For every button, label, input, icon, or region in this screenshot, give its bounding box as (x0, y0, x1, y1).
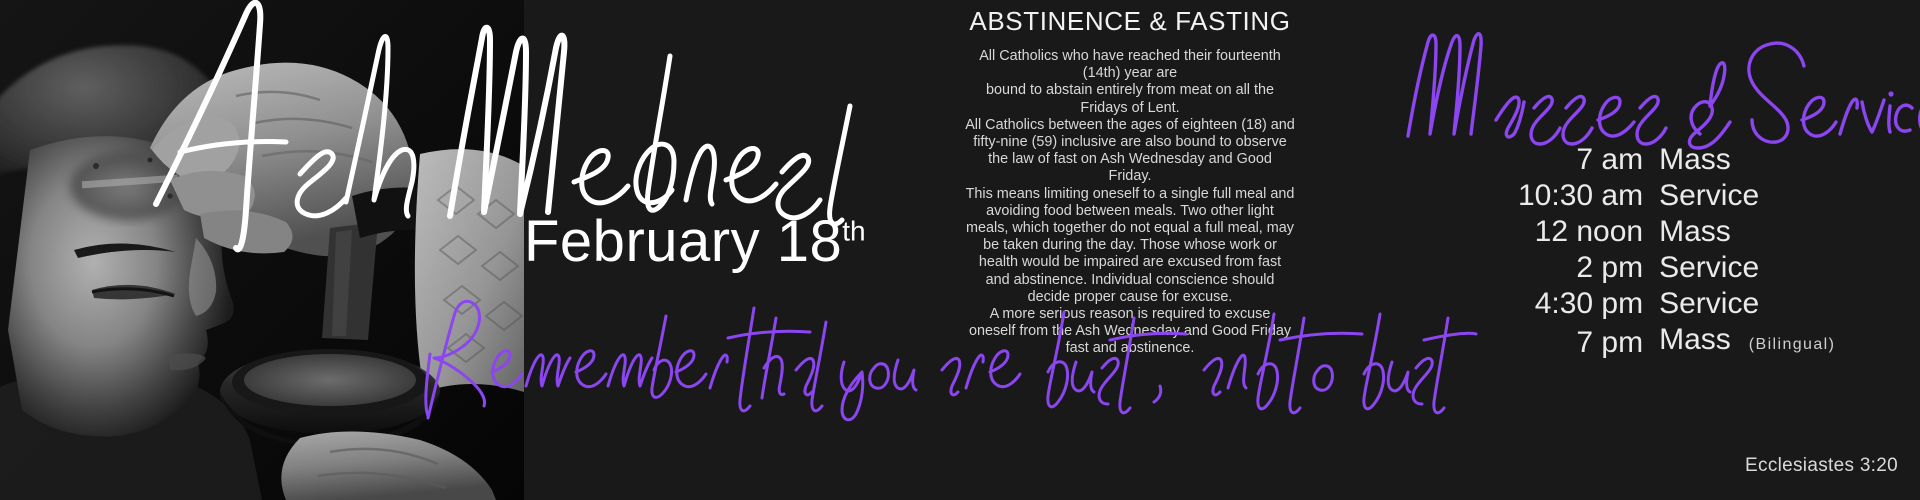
mass-type: Service (1659, 180, 1835, 216)
ash-wednesday-photo (0, 0, 524, 500)
mass-type-note: (Bilingual) (1749, 336, 1836, 353)
mass-type-text: Service (1659, 287, 1759, 320)
photo-illustration (0, 0, 524, 500)
abstinence-paragraph: All Catholics between the ages of eighte… (965, 117, 1295, 186)
table-row: 4:30 pm Service (1518, 288, 1835, 324)
abstinence-paragraph: This means limiting oneself to a single … (965, 186, 1295, 306)
mass-type-text: Service (1659, 179, 1759, 212)
mass-type-text: Service (1659, 251, 1759, 284)
abstinence-body: All Catholics who have reached their fou… (965, 48, 1295, 358)
table-row: 2 pm Service (1518, 252, 1835, 288)
mass-type: Mass (1659, 144, 1835, 180)
masses-services-script-title (1400, 28, 1900, 138)
mass-type-text: Mass (1659, 323, 1731, 356)
table-row: 10:30 am Service (1518, 180, 1835, 216)
table-row: 7 pm Mass(Bilingual) (1518, 324, 1835, 365)
table-row: 12 noon Mass (1518, 216, 1835, 252)
mass-type: Service (1659, 252, 1835, 288)
mass-type: Mass (1659, 216, 1835, 252)
ash-wednesday-banner: February 18th ABSTINENCE & FASTING All C… (0, 0, 1920, 500)
mass-time: 10:30 am (1518, 180, 1659, 216)
event-date-text: February 18 (524, 209, 842, 274)
mass-time: 4:30 pm (1518, 288, 1659, 324)
mass-time: 7 pm (1518, 324, 1659, 365)
scripture-quote-script (418, 288, 1478, 423)
mass-time: 2 pm (1518, 252, 1659, 288)
mass-type: Mass(Bilingual) (1659, 324, 1835, 365)
scripture-citation: Ecclesiastes 3:20 (1745, 455, 1898, 477)
abstinence-and-fasting-block: ABSTINENCE & FASTING All Catholics who h… (965, 4, 1295, 358)
event-date-ordinal: th (842, 216, 865, 247)
abstinence-paragraph: A more serious reason is required to exc… (965, 306, 1295, 358)
mass-type-text: Mass (1659, 215, 1731, 248)
masses-services-strokes (1400, 28, 1900, 138)
abstinence-paragraph: bound to abstain entirely from meat on a… (965, 82, 1295, 116)
mass-time: 12 noon (1518, 216, 1659, 252)
mass-time: 7 am (1518, 144, 1659, 180)
event-date: February 18th (524, 208, 866, 275)
masses-and-services-block: 7 am Mass 10:30 am Service 12 noon Mass … (1400, 28, 1900, 365)
abstinence-heading: ABSTINENCE & FASTING (965, 4, 1295, 38)
abstinence-paragraph: All Catholics who have reached their fou… (965, 48, 1295, 82)
mass-times-table: 7 am Mass 10:30 am Service 12 noon Mass … (1518, 144, 1835, 365)
mass-type: Service (1659, 288, 1835, 324)
scripture-quote-strokes (418, 288, 1478, 423)
table-row: 7 am Mass (1518, 144, 1835, 180)
